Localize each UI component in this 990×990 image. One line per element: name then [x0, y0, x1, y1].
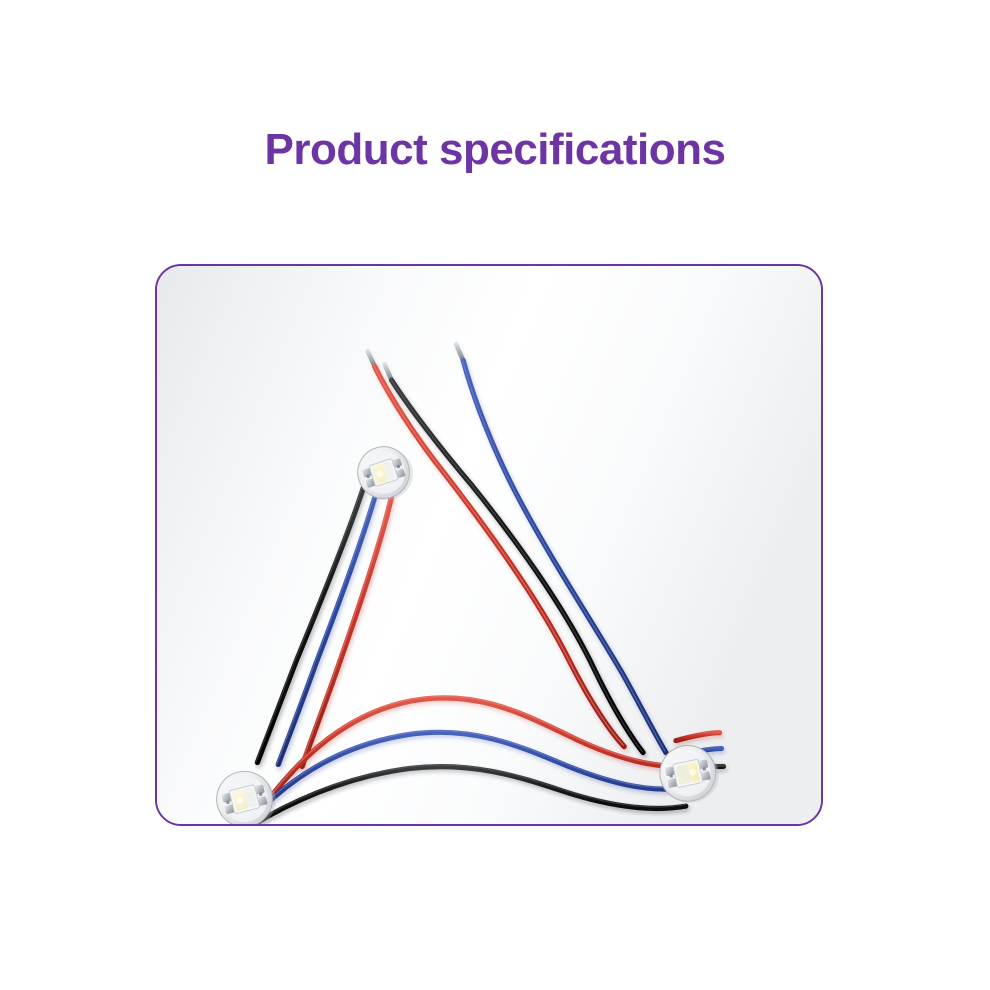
page-title: Product specifications — [0, 126, 990, 174]
led-chain-photo — [157, 266, 821, 824]
page-root: Product specifications =5V+ = Signal =Gn… — [0, 0, 990, 990]
photo-panel-inner: =5V+ = Signal =Gnd — [157, 266, 821, 824]
product-photo-panel: =5V+ = Signal =Gnd — [155, 264, 823, 826]
